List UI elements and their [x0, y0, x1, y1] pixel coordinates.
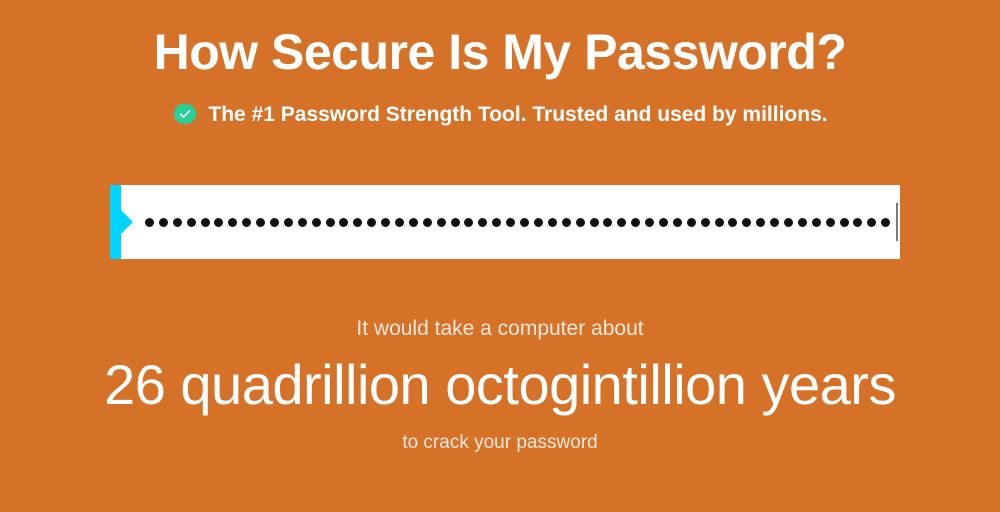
password-mask-dot: [617, 218, 626, 227]
password-masked-value: [121, 185, 895, 259]
password-mask-dot: [631, 218, 640, 227]
verified-check-icon: [172, 102, 198, 128]
password-mask-dot: [548, 218, 557, 227]
password-mask-dot: [395, 218, 404, 227]
password-mask-dot: [159, 218, 168, 227]
password-mask-dot: [312, 218, 321, 227]
text-caret: [896, 203, 898, 241]
password-mask-dot: [770, 218, 779, 227]
password-mask-dot: [756, 218, 765, 227]
password-mask-dot: [812, 218, 821, 227]
password-mask-dot: [284, 218, 293, 227]
password-mask-dot: [506, 218, 515, 227]
password-mask-dot: [534, 218, 543, 227]
password-mask-dot: [784, 218, 793, 227]
password-mask-dot: [867, 218, 876, 227]
result-time-to-crack: 26 quadrillion octogintillion years: [0, 352, 1000, 418]
password-mask-dot: [242, 218, 251, 227]
password-mask-dot: [256, 218, 265, 227]
password-mask-dot: [228, 218, 237, 227]
password-mask-dot: [798, 218, 807, 227]
password-strength-page: How Secure Is My Password? The #1 Passwo…: [0, 0, 1000, 512]
password-mask-dot: [576, 218, 585, 227]
password-mask-dot: [492, 218, 501, 227]
password-mask-dot: [451, 218, 460, 227]
password-mask-dot: [840, 218, 849, 227]
result-trailing-text: to crack your password: [0, 430, 1000, 456]
password-mask-dot: [201, 218, 210, 227]
password-mask-dot: [478, 218, 487, 227]
password-mask-dot: [645, 218, 654, 227]
password-mask-dot: [173, 218, 182, 227]
password-mask-dot: [367, 218, 376, 227]
password-mask-dot: [659, 218, 668, 227]
password-mask-dot: [381, 218, 390, 227]
password-mask-dot: [423, 218, 432, 227]
password-mask-dot: [687, 218, 696, 227]
password-mask-dot: [270, 218, 279, 227]
password-mask-dot: [603, 218, 612, 227]
password-mask-dot: [353, 218, 362, 227]
password-mask-dot: [339, 218, 348, 227]
password-mask-dot: [881, 218, 890, 227]
password-mask-dot: [826, 218, 835, 227]
password-mask-dot: [437, 218, 446, 227]
password-mask-dot: [298, 218, 307, 227]
password-mask-dot: [590, 218, 599, 227]
password-mask-dot: [742, 218, 751, 227]
password-mask-dot: [701, 218, 710, 227]
result-lead-text: It would take a computer about: [0, 315, 1000, 343]
password-input-area[interactable]: [121, 185, 900, 259]
password-mask-dot: [728, 218, 737, 227]
password-mask-dot: [464, 218, 473, 227]
cyan-caret-marker-icon: [110, 185, 121, 259]
password-input-field[interactable]: [110, 185, 900, 259]
subtitle-text: The #1 Password Strength Tool. Trusted a…: [208, 102, 827, 128]
password-mask-dot: [326, 218, 335, 227]
page-title: How Secure Is My Password?: [0, 20, 1000, 84]
password-mask-dot: [214, 218, 223, 227]
password-mask-dot: [715, 218, 724, 227]
password-mask-dot: [520, 218, 529, 227]
password-mask-dot: [562, 218, 571, 227]
subtitle-row: The #1 Password Strength Tool. Trusted a…: [0, 102, 1000, 128]
password-mask-dot: [853, 218, 862, 227]
password-mask-dot: [187, 218, 196, 227]
password-mask-dot: [673, 218, 682, 227]
password-mask-dot: [145, 218, 154, 227]
password-mask-dot: [409, 218, 418, 227]
